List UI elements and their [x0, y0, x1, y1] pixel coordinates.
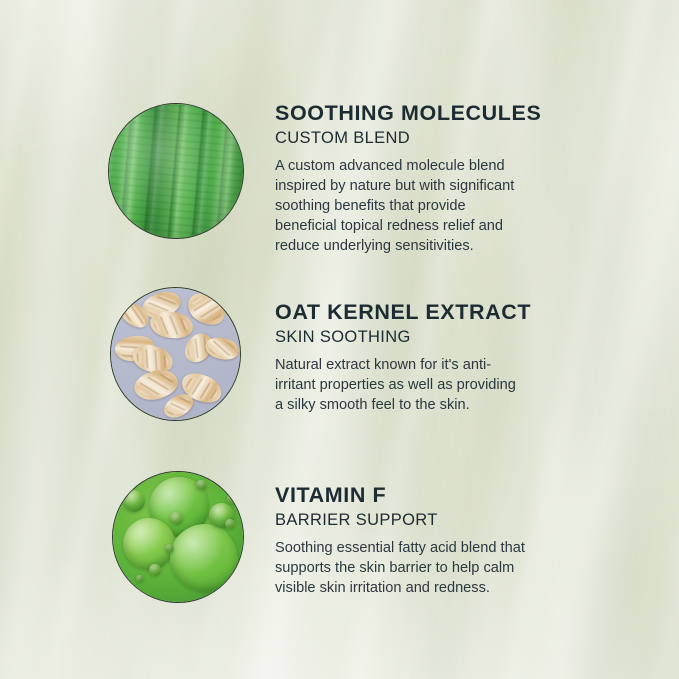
- oil-droplet: [196, 480, 206, 490]
- section-heading: VITAMIN F: [275, 483, 565, 507]
- oil-droplet: [227, 493, 239, 505]
- oil-droplet: [136, 575, 144, 583]
- section-heading: OAT KERNEL EXTRACT: [275, 300, 560, 324]
- cell-vignette: [109, 104, 243, 238]
- oat-flakes-icon: [111, 288, 240, 420]
- oat-flake: [148, 309, 194, 341]
- section-body: Natural extract known for it's anti- irr…: [275, 355, 547, 415]
- oat-kernel-extract-text-block: OAT KERNEL EXTRACT SKIN SOOTHING Natural…: [275, 300, 560, 415]
- section-body: A custom advanced molecule blend inspire…: [275, 156, 543, 256]
- oil-droplet: [165, 544, 174, 553]
- oil-droplet: [123, 490, 145, 512]
- soothing-molecules-image: [108, 103, 244, 239]
- oil-droplet: [149, 564, 161, 576]
- ingredient-infographic: SOOTHING MOLECULES CUSTOM BLEND A custom…: [0, 0, 679, 679]
- section-subheading: BARRIER SUPPORT: [275, 511, 565, 530]
- section-subheading: CUSTOM BLEND: [275, 129, 555, 148]
- section-heading: SOOTHING MOLECULES: [275, 101, 555, 125]
- soothing-molecules-text-block: SOOTHING MOLECULES CUSTOM BLEND A custom…: [275, 101, 555, 256]
- vitamin-f-image: [112, 471, 244, 603]
- section-subheading: SKIN SOOTHING: [275, 328, 560, 347]
- oat-flake: [203, 335, 240, 363]
- oil-droplet: [225, 519, 235, 529]
- green-oil-droplets-icon: [113, 472, 243, 602]
- oil-droplet: [170, 524, 238, 592]
- oat-kernel-extract-image: [110, 287, 241, 421]
- vitamin-f-text-block: VITAMIN F BARRIER SUPPORT Soothing essen…: [275, 483, 565, 598]
- section-body: Soothing essential fatty acid blend that…: [275, 538, 553, 598]
- plant-cell-microscopy-icon: [109, 104, 243, 238]
